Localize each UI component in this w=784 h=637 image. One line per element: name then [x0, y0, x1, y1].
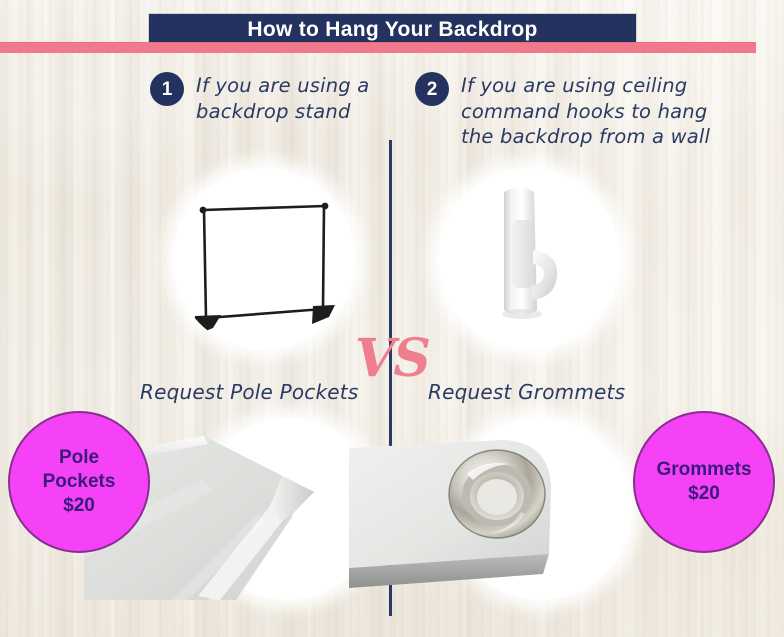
price-badge-left-price: $20: [63, 494, 95, 518]
command-hook-image: [438, 168, 620, 350]
price-badge-pole-pockets: Pole Pockets $20: [8, 411, 150, 553]
page-title: How to Hang Your Backdrop: [247, 18, 537, 42]
step-2: 2 If you are using ceiling command hooks…: [415, 72, 720, 150]
price-badge-grommets: Grommets $20: [633, 411, 775, 553]
caption-grommets: Request Grommets: [428, 380, 625, 404]
price-badge-left-line2: Pockets: [43, 470, 116, 494]
vs-label: VS: [352, 333, 432, 385]
accent-strip: [0, 42, 756, 53]
step-2-text: If you are using ceiling command hooks t…: [461, 72, 720, 150]
backdrop-stand-icon: [173, 168, 355, 350]
price-badge-left-line1: Pole: [59, 446, 99, 470]
price-badge-right-line1: Grommets: [656, 458, 751, 482]
price-badge-right-price: $20: [688, 482, 720, 506]
grommet-image: [450, 418, 632, 600]
step-number-badge-2: 2: [415, 72, 449, 106]
backdrop-stand-image: [173, 168, 355, 350]
step-number-badge-1: 1: [150, 72, 184, 106]
step-1-text: If you are using a backdrop stand: [196, 72, 385, 124]
command-hook-icon: [438, 168, 620, 350]
pole-pocket-image: [197, 418, 379, 600]
infographic-poster: How to Hang Your Backdrop 1 If you are u…: [0, 0, 784, 637]
caption-pole-pockets: Request Pole Pockets: [140, 380, 358, 404]
step-1: 1 If you are using a backdrop stand: [150, 72, 385, 124]
